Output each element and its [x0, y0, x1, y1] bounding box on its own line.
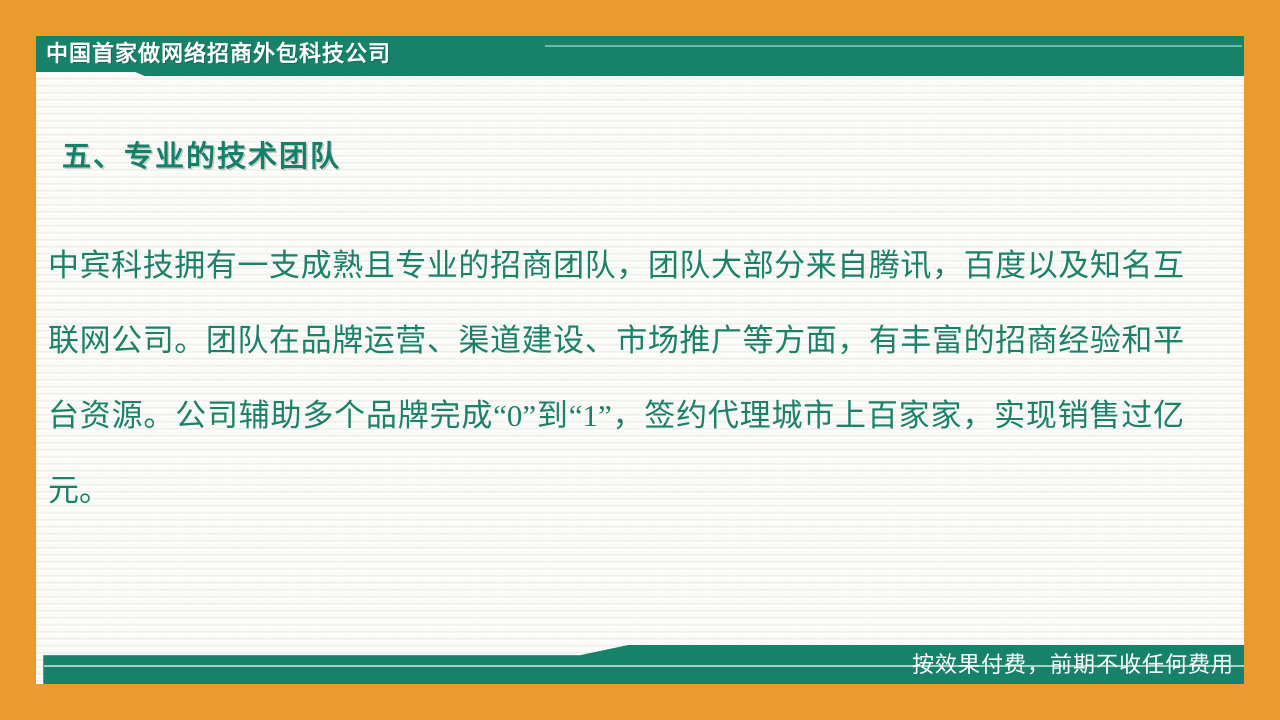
header-hairline-divider: [545, 45, 1242, 47]
slide-canvas: 中国首家做网络招商外包科技公司 五、专业的技术团队 中宾科技拥有一支成熟且专业的…: [0, 0, 1280, 720]
section-heading: 五、专业的技术团队: [62, 133, 341, 175]
body-paragraph: 中宾科技拥有一支成熟且专业的招商团队，团队大部分来自腾讯，百度以及知名互联网公司…: [48, 228, 1184, 528]
footer-tagline: 按效果付费，前期不收任何费用: [912, 645, 1234, 684]
header-title: 中国首家做网络招商外包科技公司: [46, 36, 391, 72]
